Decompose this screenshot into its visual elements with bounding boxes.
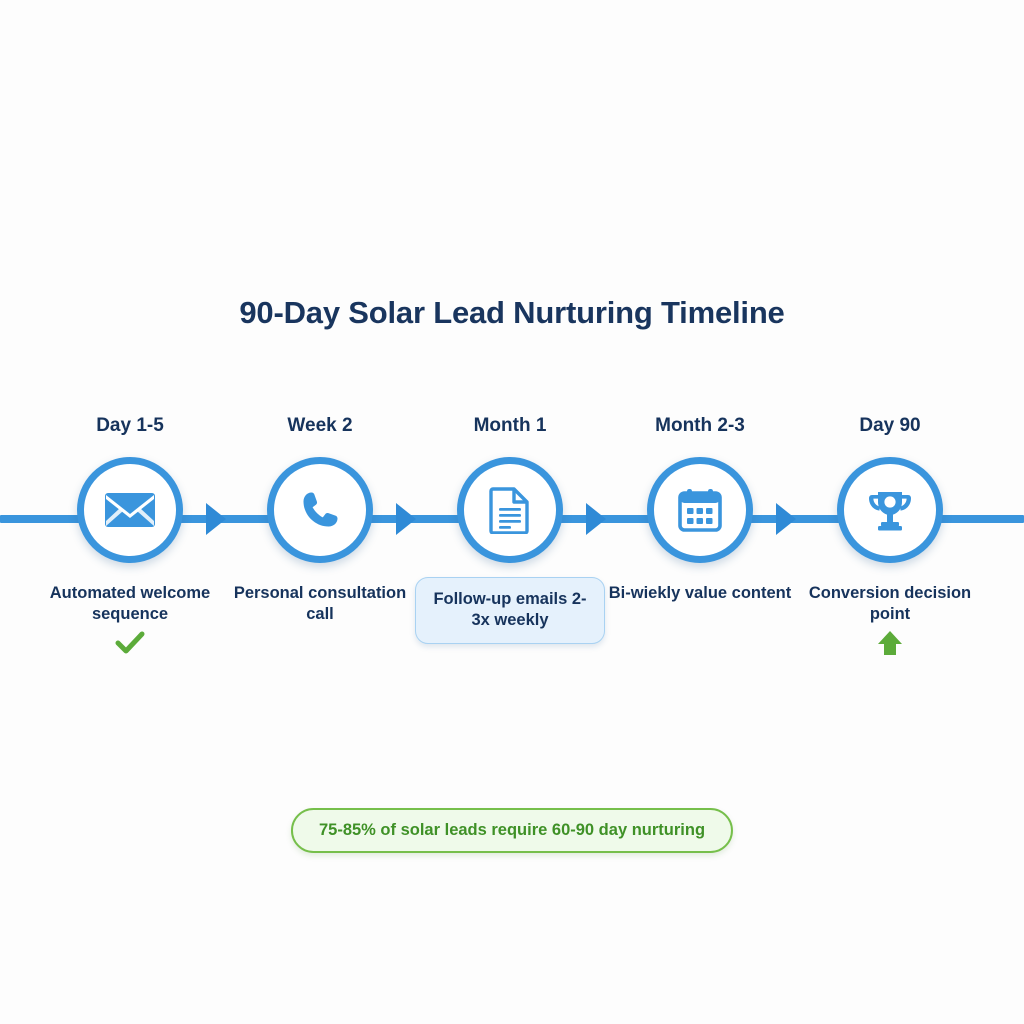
step-description: Automated welcome sequence — [35, 583, 225, 625]
timeline-step-5[interactable]: Day 90 Conversion decision point — [795, 415, 985, 659]
step-status-mark — [225, 631, 415, 659]
document-icon — [489, 486, 531, 534]
step-circle — [77, 457, 183, 563]
step-description-highlight: Follow-up emails 2-3x weekly — [415, 577, 605, 644]
step-circle — [647, 457, 753, 563]
step-period-label: Month 2-3 — [605, 415, 795, 439]
step-status-mark — [795, 631, 985, 659]
step-node-5[interactable] — [837, 457, 943, 563]
step-status-mark — [415, 650, 605, 678]
timeline-step-2[interactable]: Week 2 Personal consultation call — [225, 415, 415, 659]
step-circle — [267, 457, 373, 563]
envelope-icon — [104, 490, 156, 530]
step-period-label: Month 1 — [415, 415, 605, 439]
step-status-mark — [605, 610, 795, 638]
step-node-4[interactable] — [647, 457, 753, 563]
step-period-label: Day 90 — [795, 415, 985, 439]
step-period-label: Day 1-5 — [35, 415, 225, 439]
page-title: 90-Day Solar Lead Nurturing Timeline — [0, 295, 1024, 331]
green-check-icon — [115, 631, 145, 660]
step-node-3[interactable] — [457, 457, 563, 563]
timeline-step-1[interactable]: Day 1-5 Automated welcome sequence — [35, 415, 225, 659]
step-description: Bi-wiekly value content — [605, 583, 795, 604]
step-description: Personal consultation call — [225, 583, 415, 625]
timeline-step-3[interactable]: Month 1 Follow-up emails 2-3x weekly — [415, 415, 605, 678]
timeline-step-4[interactable]: Month 2-3 — [605, 415, 795, 638]
step-node-1[interactable] — [77, 457, 183, 563]
step-node-2[interactable] — [267, 457, 373, 563]
step-circle — [837, 457, 943, 563]
infographic-canvas: 90-Day Solar Lead Nurturing Timeline Day… — [0, 0, 1024, 1024]
calendar-icon — [676, 487, 724, 533]
step-status-mark — [35, 631, 225, 659]
step-period-label: Week 2 — [225, 415, 415, 439]
step-circle — [457, 457, 563, 563]
phone-icon — [298, 488, 342, 532]
green-up-arrow-icon — [877, 629, 903, 662]
trophy-icon — [866, 487, 914, 533]
step-description: Conversion decision point — [795, 583, 985, 625]
stat-badge: 75-85% of solar leads require 60-90 day … — [291, 808, 733, 853]
